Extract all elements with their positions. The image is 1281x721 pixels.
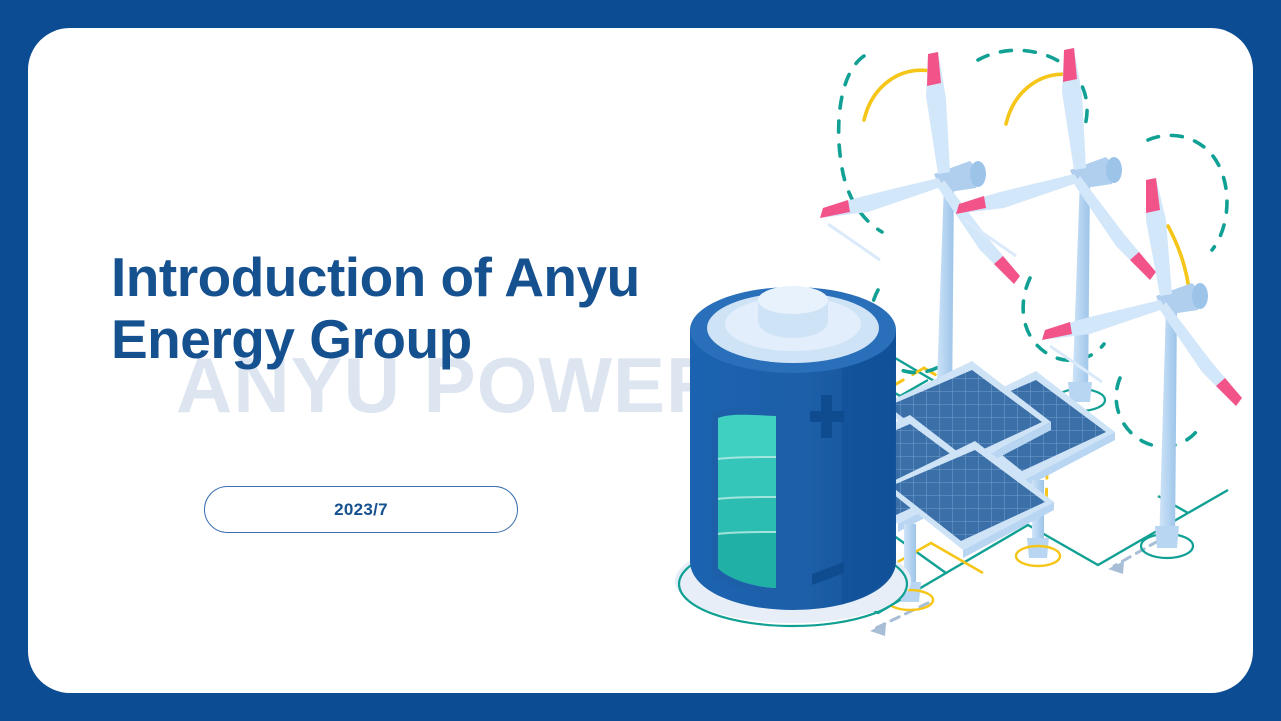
page-title: Introduction of Anyu Energy Group: [111, 247, 731, 370]
slide-card: ANYU POWER: [28, 28, 1253, 693]
turbine-hub: [970, 161, 986, 187]
wind-turbine-middle: [956, 48, 1156, 411]
date-badge-label: 2023/7: [334, 500, 388, 520]
date-badge[interactable]: 2023/7: [204, 486, 518, 533]
page-title-line-1: Introduction of Anyu: [111, 247, 731, 309]
battery-charge-bars: [718, 415, 776, 588]
turbine-pole: [1159, 306, 1177, 546]
turbine-hub: [1192, 283, 1208, 309]
wind-turbine-right: [1042, 135, 1242, 558]
battery-terminal-top: [758, 286, 828, 314]
slide-root: ANYU POWER: [0, 0, 1281, 721]
turbine-hub: [1106, 157, 1122, 183]
turbine-arc-yellow: [1006, 74, 1072, 124]
turbine-arc-yellow: [864, 70, 930, 120]
turbine-base-collar: [1155, 526, 1179, 548]
page-title-line-2: Energy Group: [111, 309, 731, 371]
battery-body-shade: [842, 330, 896, 604]
solar-panel-collar: [1027, 538, 1049, 558]
turbine-blade-tip: [927, 52, 941, 86]
turbine-motion-line: [828, 224, 880, 260]
turbine-blade-tip: [1146, 178, 1160, 213]
turbine-blade-tip: [1063, 48, 1077, 82]
